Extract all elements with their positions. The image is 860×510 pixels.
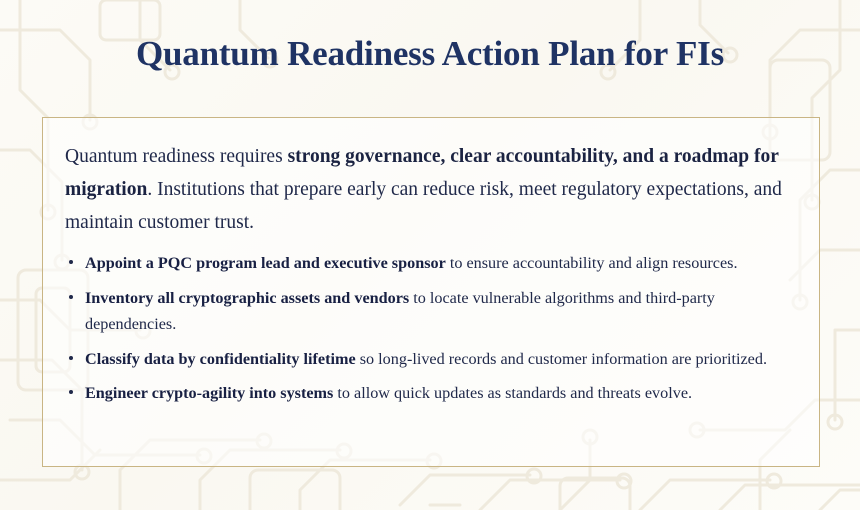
page-title: Quantum Readiness Action Plan for FIs: [0, 34, 860, 74]
list-item: Engineer crypto-agility into systems to …: [67, 380, 809, 407]
intro-text-part1: Quantum readiness requires: [65, 146, 288, 167]
list-item-lead: Engineer crypto-agility into systems: [85, 384, 333, 402]
bullet-dot-icon: [69, 295, 73, 299]
bullet-dot-icon: [69, 260, 73, 264]
bullet-dot-icon: [69, 356, 73, 360]
intro-paragraph: Quantum readiness requires strong govern…: [65, 140, 801, 239]
list-item-rest: to allow quick updates as standards and …: [333, 384, 692, 402]
action-bullet-list: Appoint a PQC program lead and executive…: [67, 250, 809, 407]
bullet-dot-icon: [69, 390, 73, 394]
intro-text-part2: . Institutions that prepare early can re…: [65, 179, 782, 233]
list-item: Appoint a PQC program lead and executive…: [67, 250, 809, 277]
list-item-lead: Appoint a PQC program lead and executive…: [85, 254, 446, 272]
list-item-lead: Inventory all cryptographic assets and v…: [85, 289, 409, 307]
list-item-rest: so long-lived records and customer infor…: [356, 350, 767, 368]
slide-root: Quantum Readiness Action Plan for FIs Qu…: [0, 0, 860, 510]
content-card: Quantum readiness requires strong govern…: [42, 117, 820, 467]
list-item: Classify data by confidentiality lifetim…: [67, 346, 809, 373]
list-item-lead: Classify data by confidentiality lifetim…: [85, 350, 356, 368]
list-item: Inventory all cryptographic assets and v…: [67, 285, 809, 338]
list-item-rest: to ensure accountability and align resou…: [446, 254, 738, 272]
